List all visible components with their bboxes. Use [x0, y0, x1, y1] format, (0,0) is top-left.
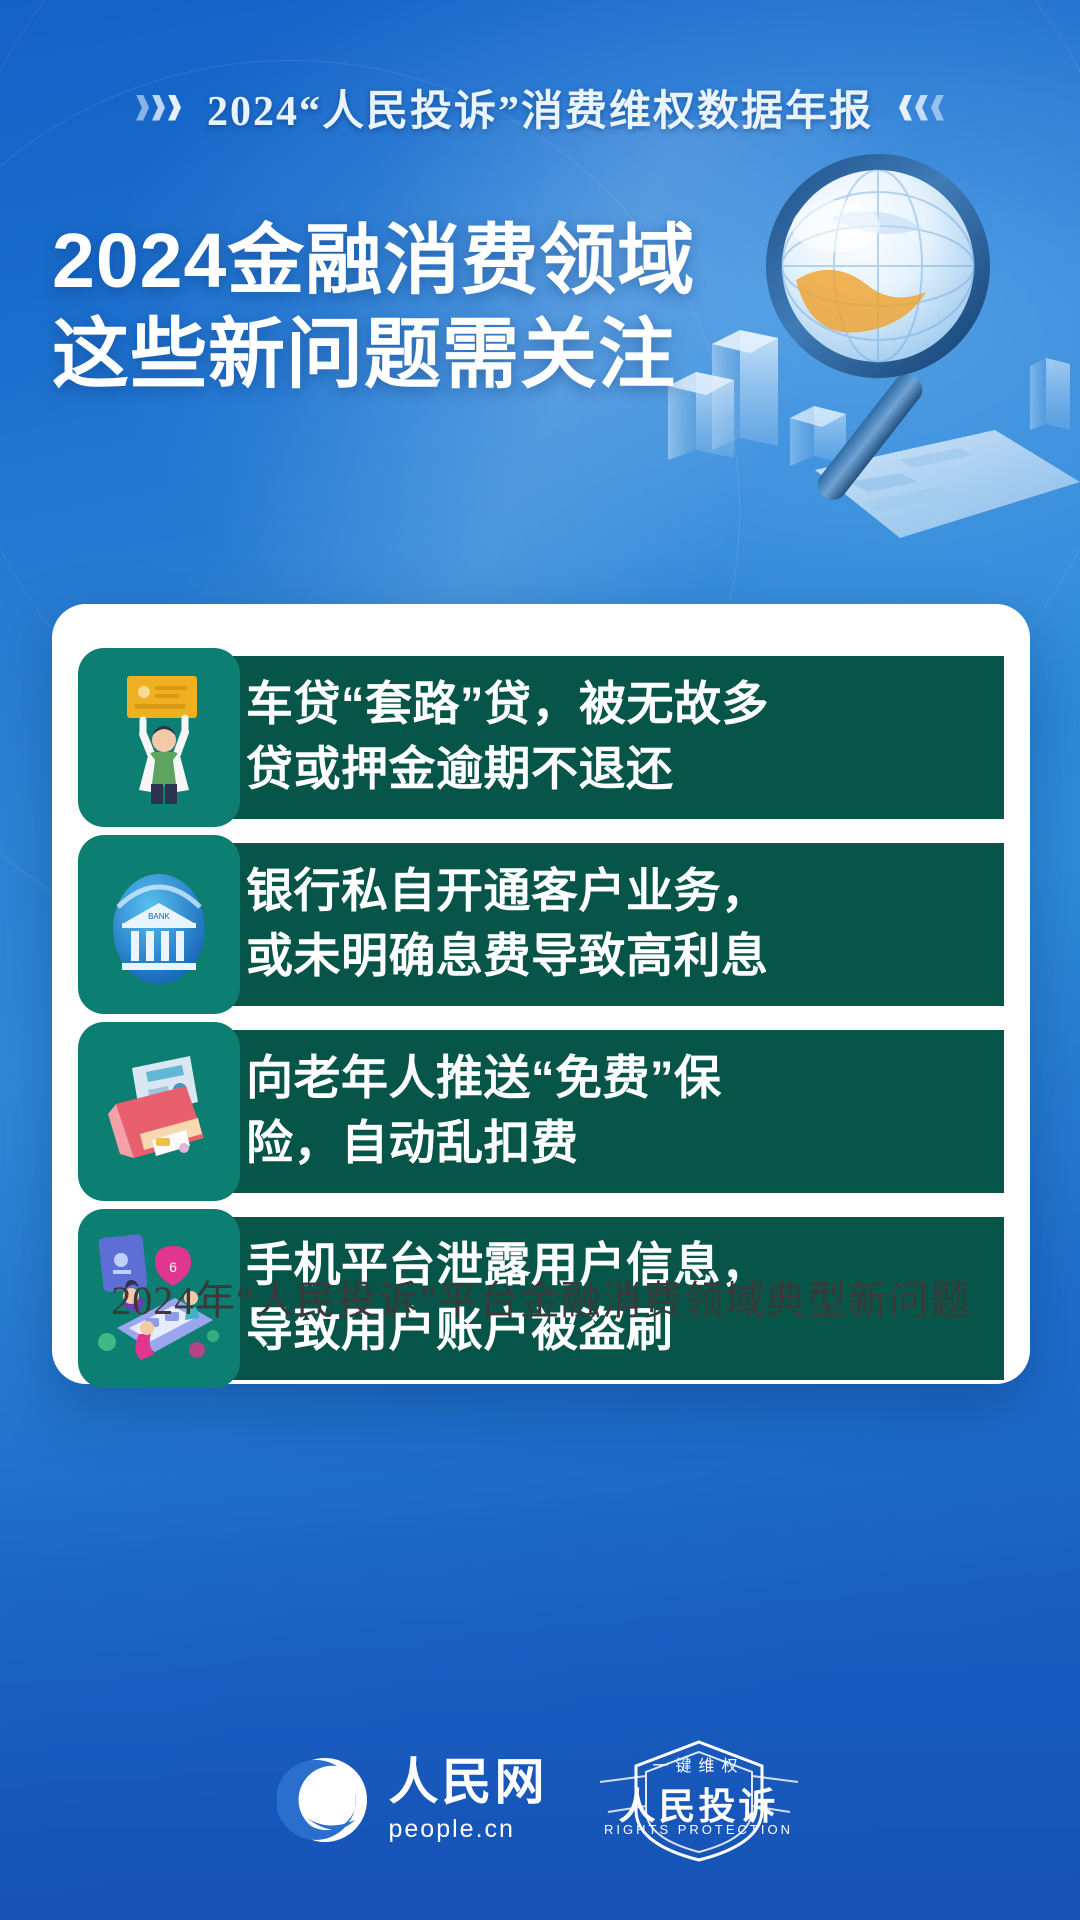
svg-text:BANK: BANK	[148, 912, 170, 921]
wallet-cards-svg	[94, 1042, 224, 1182]
chevron-right-triple-icon	[136, 95, 181, 121]
person-holding-loan-card-svg	[99, 668, 219, 808]
people-cn-logo-icon	[277, 1752, 373, 1848]
bank-building-svg: BANK	[94, 855, 224, 995]
issue-line-1: 银行私自开通客户业务，	[246, 859, 994, 924]
list-item[interactable]: 车贷“套路”贷，被无故多 贷或押金逾期不退还	[52, 656, 1030, 819]
wallet-cards-icon	[78, 1022, 240, 1201]
issue-line-1: 向老年人推送“免费”保	[246, 1046, 994, 1111]
issue-text-panel: 银行私自开通客户业务， 或未明确息费导致高利息	[220, 843, 1004, 1006]
issue-line-2: 贷或押金逾期不退还	[246, 737, 994, 802]
person-holding-loan-card-icon	[78, 648, 240, 827]
issue-text-panel: 向老年人推送“免费”保 险，自动乱扣费	[220, 1030, 1004, 1193]
header-title: 2024“人民投诉”消费维权数据年报	[207, 77, 873, 138]
hero-title: 2024金融消费领域 这些新问题需关注	[52, 215, 752, 403]
issue-text-panel: 车贷“套路”贷，被无故多 贷或押金逾期不退还	[220, 656, 1004, 819]
chevron-left-triple-icon	[899, 95, 944, 121]
hero-title-line-1: 2024金融消费领域	[52, 215, 752, 309]
shield-tagline: 一键维权	[652, 1752, 744, 1776]
brand-name-cn: 人民网	[389, 1757, 548, 1807]
list-item[interactable]: 向老年人推送“免费”保 险，自动乱扣费	[52, 1030, 1030, 1193]
brand-name-en: people.cn	[389, 1815, 515, 1844]
people-cn-logo[interactable]: 人民网 people.cn	[277, 1752, 548, 1848]
issues-card: 车贷“套路”贷，被无故多 贷或押金逾期不退还	[52, 604, 1030, 1384]
issues-list: 车贷“套路”贷，被无故多 贷或押金逾期不退还	[52, 604, 1030, 1384]
footer-logos: 人民网 people.cn 一键维权 人民投诉 RIGHTS PROTECTIO…	[0, 1735, 1080, 1865]
issue-line-2: 或未明确息费导致高利息	[246, 924, 994, 989]
card-caption: 2024年“人民投诉”平台金融消费领域典型新问题	[52, 1268, 1030, 1326]
list-item[interactable]: 银行私自开通客户业务， 或未明确息费导致高利息	[52, 843, 1030, 1006]
shield-subtitle-en: RIGHTS PROTECTION	[604, 1822, 793, 1837]
issue-line-2: 险，自动乱扣费	[246, 1111, 994, 1176]
rights-protection-logo[interactable]: 一键维权 人民投诉 RIGHTS PROTECTION	[594, 1736, 804, 1864]
issue-line-1: 车贷“套路”贷，被无故多	[246, 672, 994, 737]
bank-building-icon: BANK	[78, 835, 240, 1014]
hero-title-line-2: 这些新问题需关注	[52, 309, 752, 403]
poster-root: 2024“人民投诉”消费维权数据年报	[0, 0, 1080, 1920]
brand-text-block: 人民网 people.cn	[389, 1757, 548, 1844]
